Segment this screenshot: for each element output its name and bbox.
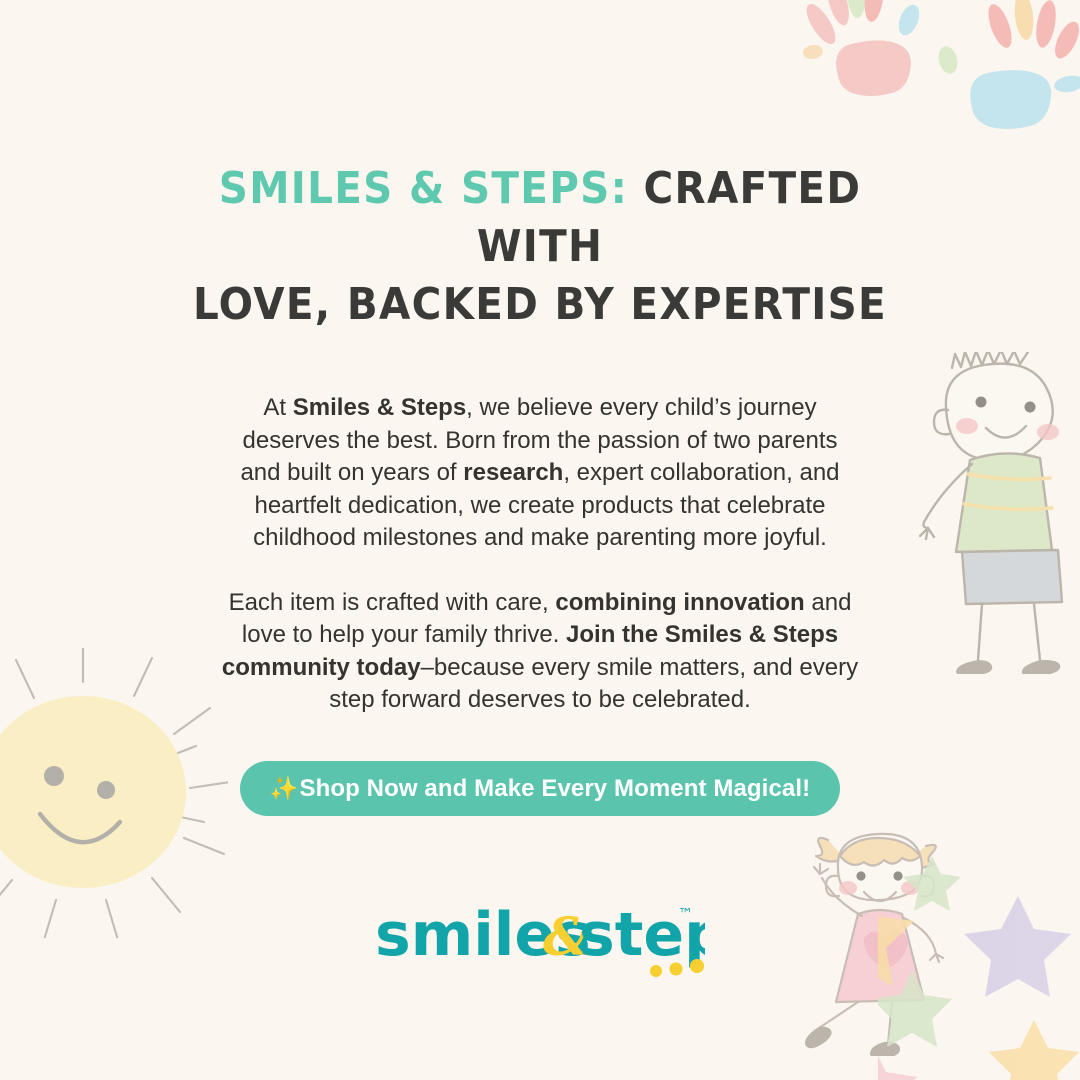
shop-now-button[interactable]: ✨Shop Now and Make Every Moment Magical!: [240, 761, 840, 816]
paragraph-1: At Smiles & Steps, we believe every chil…: [220, 392, 860, 555]
headline-line2: LOVE, BACKED BY EXPERTISE: [193, 279, 887, 330]
p1-bold-research: research: [463, 459, 563, 486]
smiles-and-steps-logo-icon: smiles & steps ™: [375, 893, 705, 985]
headline-brand-segment: SMILES & STEPS:: [219, 163, 628, 214]
shop-now-button-label: Shop Now and Make Every Moment Magical!: [300, 761, 811, 816]
logo-dot-2: [670, 963, 683, 976]
logo-trademark: ™: [678, 905, 693, 923]
logo-dot-1: [650, 965, 662, 977]
p1-seg1: At: [263, 394, 292, 421]
page-title: SMILES & STEPS: CRAFTED WITH LOVE, BACKE…: [190, 160, 889, 334]
poster-canvas: SMILES & STEPS: CRAFTED WITH LOVE, BACKE…: [0, 0, 1080, 1080]
p2-seg1: Each item is crafted with care,: [229, 589, 556, 616]
p2-bold-innovation: combining innovation: [555, 589, 804, 616]
paragraph-2: Each item is crafted with care, combinin…: [220, 587, 860, 717]
body-copy: At Smiles & Steps, we believe every chil…: [220, 392, 860, 717]
brand-logo: smiles & steps ™: [0, 893, 1080, 985]
logo-dot-3: [690, 959, 704, 973]
p1-bold-brand: Smiles & Steps: [293, 394, 466, 421]
sparkles-icon: ✨: [270, 761, 299, 816]
